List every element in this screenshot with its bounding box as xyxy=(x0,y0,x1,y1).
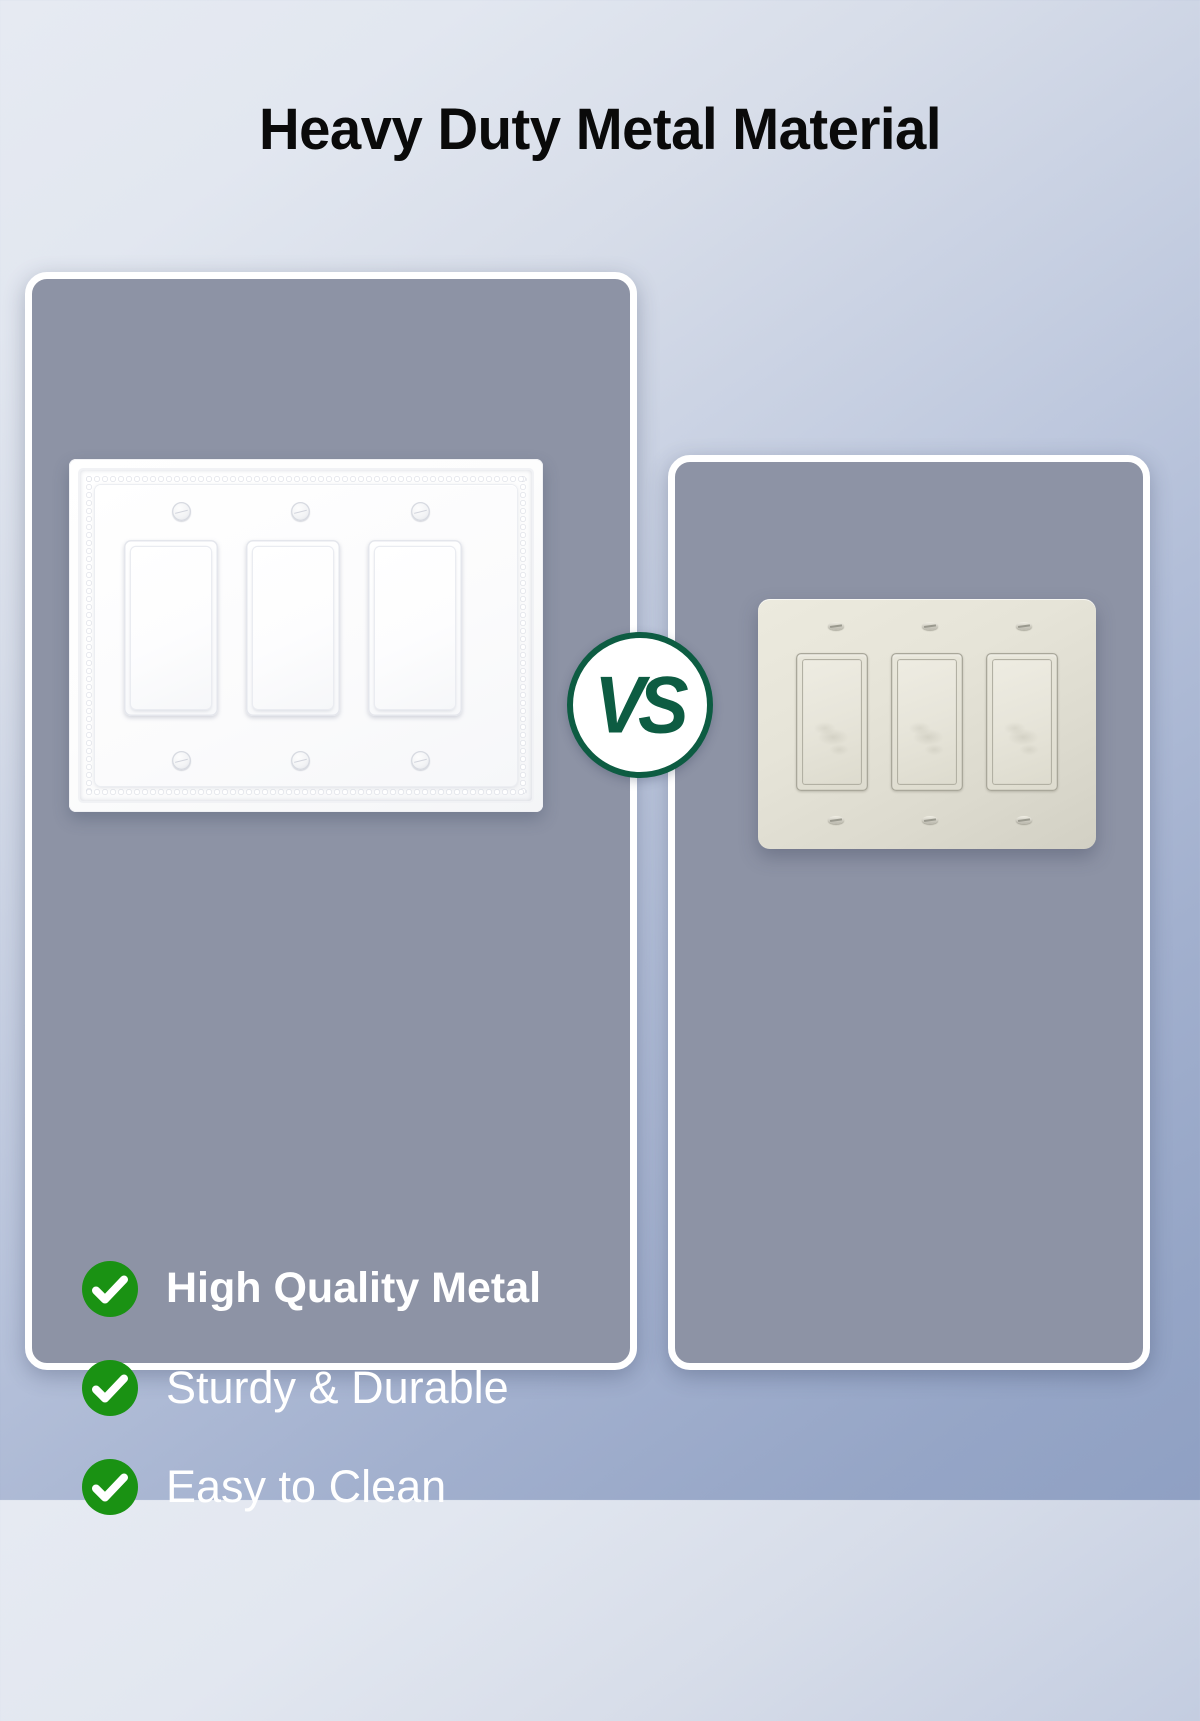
feature-label: Easy to Clean xyxy=(166,1464,446,1509)
rocker-switch-1 xyxy=(124,540,218,716)
check-icon xyxy=(82,1360,138,1416)
rocker-paddle-1 xyxy=(131,547,211,709)
feature-label: High Quality Metal xyxy=(166,1267,541,1310)
feature-item: Easy to Clean xyxy=(82,1437,642,1536)
plate-screw-bottom-right xyxy=(411,751,430,770)
plate-screw-bottom-right xyxy=(1016,816,1032,824)
check-icon xyxy=(82,1261,138,1317)
plate-screw-top-right xyxy=(1016,622,1032,630)
plate-screw-bottom-center xyxy=(922,816,938,824)
rocker-paddle-3 xyxy=(992,659,1052,785)
rocker-switch-3 xyxy=(368,540,462,716)
rocker-switch-2 xyxy=(246,540,340,716)
plate-screw-bottom-left xyxy=(828,816,844,824)
plate-screw-top-left xyxy=(172,502,191,521)
rocker-switch-3 xyxy=(986,653,1058,791)
plastic-wall-plate-panel: Poor Quality Plastic Easy to Crack Easy … xyxy=(668,455,1150,1370)
metal-wall-plate-panel: High Quality Metal Sturdy & Durable Easy… xyxy=(25,272,637,1370)
rocker-switch-1 xyxy=(796,653,868,791)
metal-feature-list: High Quality Metal Sturdy & Durable Easy… xyxy=(82,1239,642,1536)
check-icon xyxy=(82,1459,138,1515)
plate-screw-top-right xyxy=(411,502,430,521)
page-title: Heavy Duty Metal Material xyxy=(18,96,1182,163)
plate-screw-bottom-left xyxy=(172,751,191,770)
rocker-paddle-1 xyxy=(802,659,862,785)
plate-screw-bottom-center xyxy=(291,751,310,770)
rocker-switch-2 xyxy=(891,653,963,791)
rocker-paddle-2 xyxy=(253,547,333,709)
plate-screw-top-left xyxy=(828,622,844,630)
vs-badge: VS xyxy=(567,632,713,778)
feature-item: Sturdy & Durable xyxy=(82,1338,642,1437)
beige-plastic-wall-plate-image xyxy=(758,599,1096,849)
plate-screw-top-center xyxy=(922,622,938,630)
rocker-paddle-2 xyxy=(897,659,957,785)
rocker-paddle-3 xyxy=(375,547,455,709)
feature-label: Sturdy & Durable xyxy=(166,1365,509,1410)
white-metal-wall-plate-image xyxy=(69,459,543,812)
plate-screw-top-center xyxy=(291,502,310,521)
vs-badge-label: VS xyxy=(594,659,681,751)
feature-item: High Quality Metal xyxy=(82,1239,642,1338)
